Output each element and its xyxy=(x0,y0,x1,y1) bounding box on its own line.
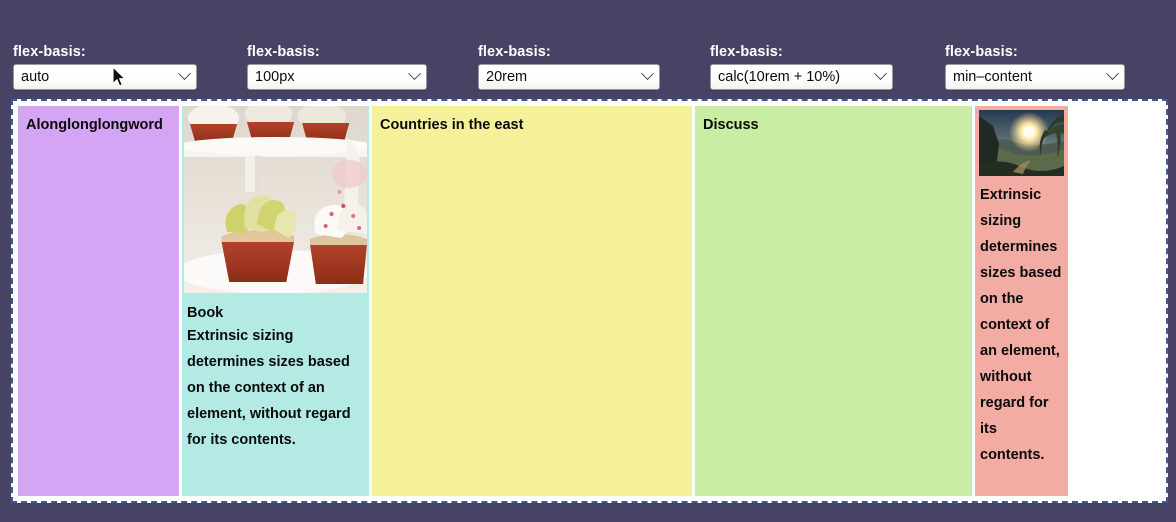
flex-basis-label-1: flex-basis: xyxy=(13,44,197,60)
flex-item-1-title: Alonglonglongword xyxy=(26,115,172,135)
flex-item-2-image-wrap xyxy=(182,106,369,293)
flex-item-3-title: Countries in the east xyxy=(380,115,685,135)
flex-item-3[interactable]: Countries in the east xyxy=(372,106,692,496)
flex-basis-label-3: flex-basis: xyxy=(478,44,660,60)
flex-basis-select-3[interactable]: 20rem xyxy=(478,64,660,90)
flex-basis-select-1-value: auto xyxy=(21,69,49,85)
flex-basis-select-3-value: 20rem xyxy=(486,69,527,85)
page-root: flex-basis: auto flex-basis: 100px flex-… xyxy=(0,0,1176,522)
flex-item-1[interactable]: Alonglonglongword xyxy=(18,106,179,496)
flex-basis-select-4[interactable]: calc(10rem + 10%) xyxy=(710,64,893,90)
chevron-down-icon xyxy=(1106,67,1119,80)
chevron-down-icon xyxy=(641,67,654,80)
control-group-4: flex-basis: calc(10rem + 10%) xyxy=(710,44,893,90)
flex-item-2[interactable]: Book Extrinsic sizing determines sizes b… xyxy=(182,106,369,496)
flex-item-2-text-wrap: Book Extrinsic sizing determines sizes b… xyxy=(182,293,369,453)
flex-item-2-body: Extrinsic sizing determines sizes based … xyxy=(187,323,365,453)
flex-basis-select-2[interactable]: 100px xyxy=(247,64,427,90)
chevron-down-icon xyxy=(408,67,421,80)
flex-basis-controls: flex-basis: auto flex-basis: 100px flex-… xyxy=(0,44,1176,92)
chevron-down-icon xyxy=(178,67,191,80)
flex-basis-select-4-value: calc(10rem + 10%) xyxy=(718,69,840,85)
flex-basis-select-1[interactable]: auto xyxy=(13,64,197,90)
flex-item-4[interactable]: Discuss xyxy=(695,106,972,496)
chevron-down-icon xyxy=(874,67,887,80)
flex-basis-label-5: flex-basis: xyxy=(945,44,1125,60)
flex-container: Alonglonglongword xyxy=(11,99,1168,503)
control-group-5: flex-basis: min–content xyxy=(945,44,1125,90)
flex-item-5-text-wrap: Extrinsic sizing determines sizes based … xyxy=(975,176,1068,468)
flex-item-4-title: Discuss xyxy=(703,115,965,135)
flex-basis-select-2-value: 100px xyxy=(255,69,295,85)
control-group-2: flex-basis: 100px xyxy=(247,44,427,90)
control-group-3: flex-basis: 20rem xyxy=(478,44,660,90)
flex-basis-select-5-value: min–content xyxy=(953,69,1032,85)
cupcakes-photo xyxy=(184,106,367,293)
flex-item-2-title: Book xyxy=(187,303,365,323)
flex-basis-label-2: flex-basis: xyxy=(247,44,427,60)
flex-item-5-body: Extrinsic sizing determines sizes based … xyxy=(980,182,1064,468)
control-group-1: flex-basis: auto xyxy=(13,44,197,90)
flex-item-5[interactable]: Extrinsic sizing determines sizes based … xyxy=(975,106,1068,496)
flex-basis-select-5[interactable]: min–content xyxy=(945,64,1125,90)
sunset-landscape-photo xyxy=(979,110,1064,176)
flex-basis-label-4: flex-basis: xyxy=(710,44,893,60)
